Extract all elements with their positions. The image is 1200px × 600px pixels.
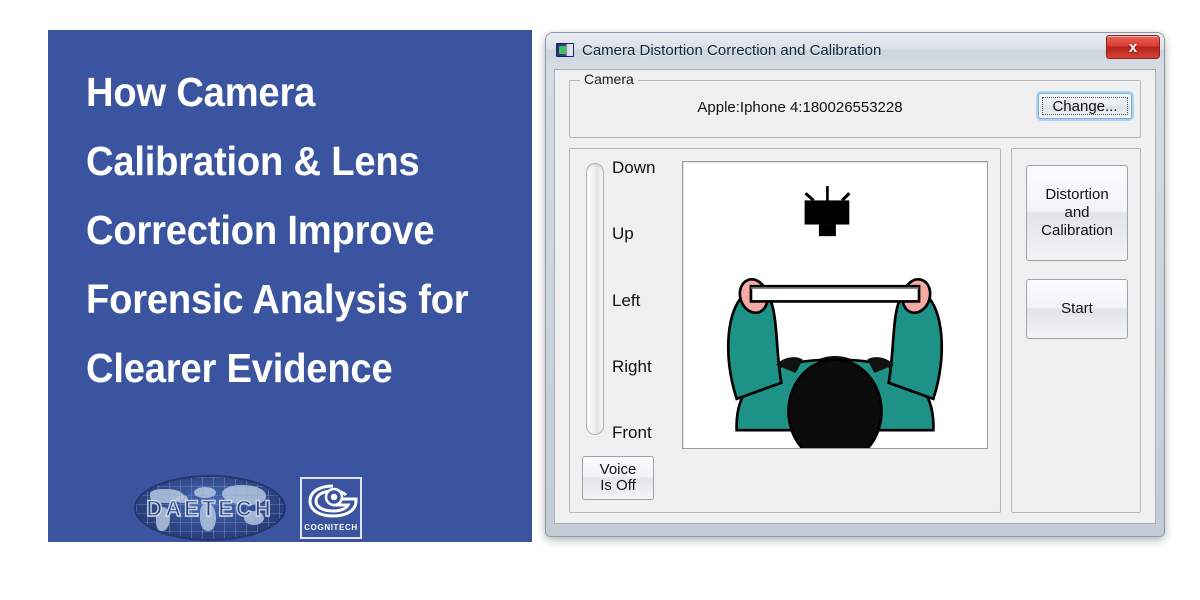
dialog-client-area: Camera Apple:Iphone 4:180026553228 Chang…	[554, 69, 1156, 524]
camera-groupbox-legend: Camera	[580, 71, 638, 87]
direction-label-front: Front	[612, 424, 682, 441]
daetech-wordmark: DAETECH	[136, 496, 284, 522]
title-bar[interactable]: Camera Distortion Correction and Calibra…	[546, 33, 1164, 67]
daetech-logo: DAETECH	[136, 477, 284, 539]
calibration-preview-canvas[interactable]	[682, 161, 988, 449]
action-panel: Distortion and Calibration Start	[1011, 148, 1141, 513]
direction-label-list: Down Up Left Right Front	[612, 159, 682, 441]
camera-on-tripod-icon	[805, 186, 850, 236]
change-camera-button[interactable]: Change...	[1038, 93, 1132, 119]
voice-button-line1: Voice	[600, 462, 637, 478]
promo-left-panel: How Camera Calibration & Lens Correction…	[48, 30, 532, 542]
logo-row: DAETECH COGNITECH	[136, 477, 362, 539]
page-title: How Camera Calibration & Lens Correction…	[86, 58, 477, 402]
person-illustration	[728, 276, 941, 448]
calib-line2: and	[1064, 204, 1089, 221]
calib-line3: Calibration	[1041, 222, 1113, 239]
cognitech-eye-g-icon	[307, 484, 359, 518]
promo-banner: How Camera Calibration & Lens Correction…	[0, 0, 1200, 600]
voice-button-line2: Is Off	[600, 478, 636, 494]
camera-groupbox: Camera Apple:Iphone 4:180026553228 Chang…	[569, 80, 1141, 138]
focus-ring	[1042, 97, 1128, 115]
direction-label-down: Down	[612, 159, 682, 176]
dialog-lower-area: Down Up Left Right Front Voice Is Off	[569, 148, 1141, 513]
calibration-dialog-window: Camera Distortion Correction and Calibra…	[545, 32, 1165, 537]
direction-label-left: Left	[612, 292, 682, 309]
cognitech-wordmark: COGNITECH	[302, 523, 360, 532]
window-title: Camera Distortion Correction and Calibra…	[582, 42, 881, 59]
preview-panel: Down Up Left Right Front Voice Is Off	[569, 148, 1001, 513]
direction-label-up: Up	[612, 225, 682, 242]
direction-label-right: Right	[612, 358, 682, 375]
close-icon[interactable]: x	[1106, 35, 1160, 59]
calib-line1: Distortion	[1045, 186, 1108, 203]
camera-app-icon	[556, 43, 574, 57]
calibration-progress-bar[interactable]	[586, 163, 604, 435]
start-button[interactable]: Start	[1026, 279, 1128, 339]
cognitech-logo: COGNITECH	[300, 477, 362, 539]
voice-toggle-button[interactable]: Voice Is Off	[582, 456, 654, 500]
distortion-and-calibration-button[interactable]: Distortion and Calibration	[1026, 165, 1128, 261]
